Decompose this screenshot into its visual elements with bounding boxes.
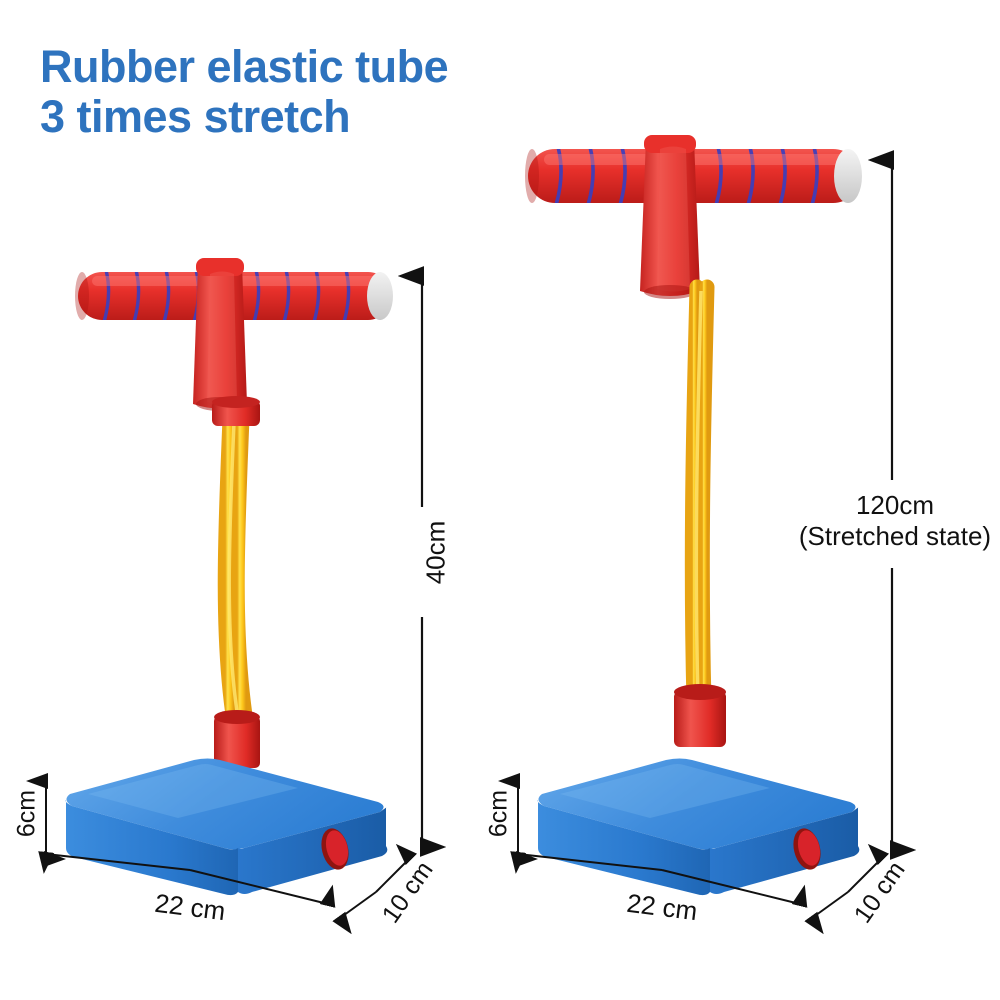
dimension-base-depth-left: 10 cm xyxy=(336,852,436,932)
dimension-base-height-right: 6cm xyxy=(494,775,528,865)
dimension-height-right-value: 120cm xyxy=(750,490,1000,521)
dimension-height-right-label-block: 120cm (Stretched state) xyxy=(750,490,1000,551)
elastic-tube-left xyxy=(190,400,320,760)
dimension-base-height-left-label: 6cm xyxy=(13,782,42,846)
pogo-jumper-stretched: 120cm (Stretched state) 6cm xyxy=(480,0,1000,1000)
dimension-height-left-label: 40cm xyxy=(421,513,452,593)
grip-end-cap-right xyxy=(834,149,862,203)
dimension-base-height-right-label: 6cm xyxy=(485,782,514,846)
grip-end-cap-left xyxy=(367,272,393,320)
dimension-base-width-right: 22 cm xyxy=(512,856,812,916)
dimension-base-width-left: 22 cm xyxy=(40,856,340,916)
product-dimension-figure: Rubber elastic tube 3 times stretch xyxy=(0,0,1000,1000)
dimension-height-right-note: (Stretched state) xyxy=(750,521,1000,552)
dimension-height-left: 40cm xyxy=(404,262,450,862)
dimension-base-height-left: 6cm xyxy=(22,775,56,865)
dimension-base-depth-right: 10 cm xyxy=(808,852,908,932)
tube-collar-top-left xyxy=(212,396,260,426)
elastic-tube-right xyxy=(660,285,740,745)
t-connector-left xyxy=(193,258,247,411)
pogo-jumper-relaxed: 40cm 6cm xyxy=(0,0,460,1000)
t-connector-right xyxy=(640,135,700,299)
tube-collar-bottom-right xyxy=(674,684,726,747)
dimension-height-right: 120cm (Stretched state) xyxy=(870,150,916,870)
